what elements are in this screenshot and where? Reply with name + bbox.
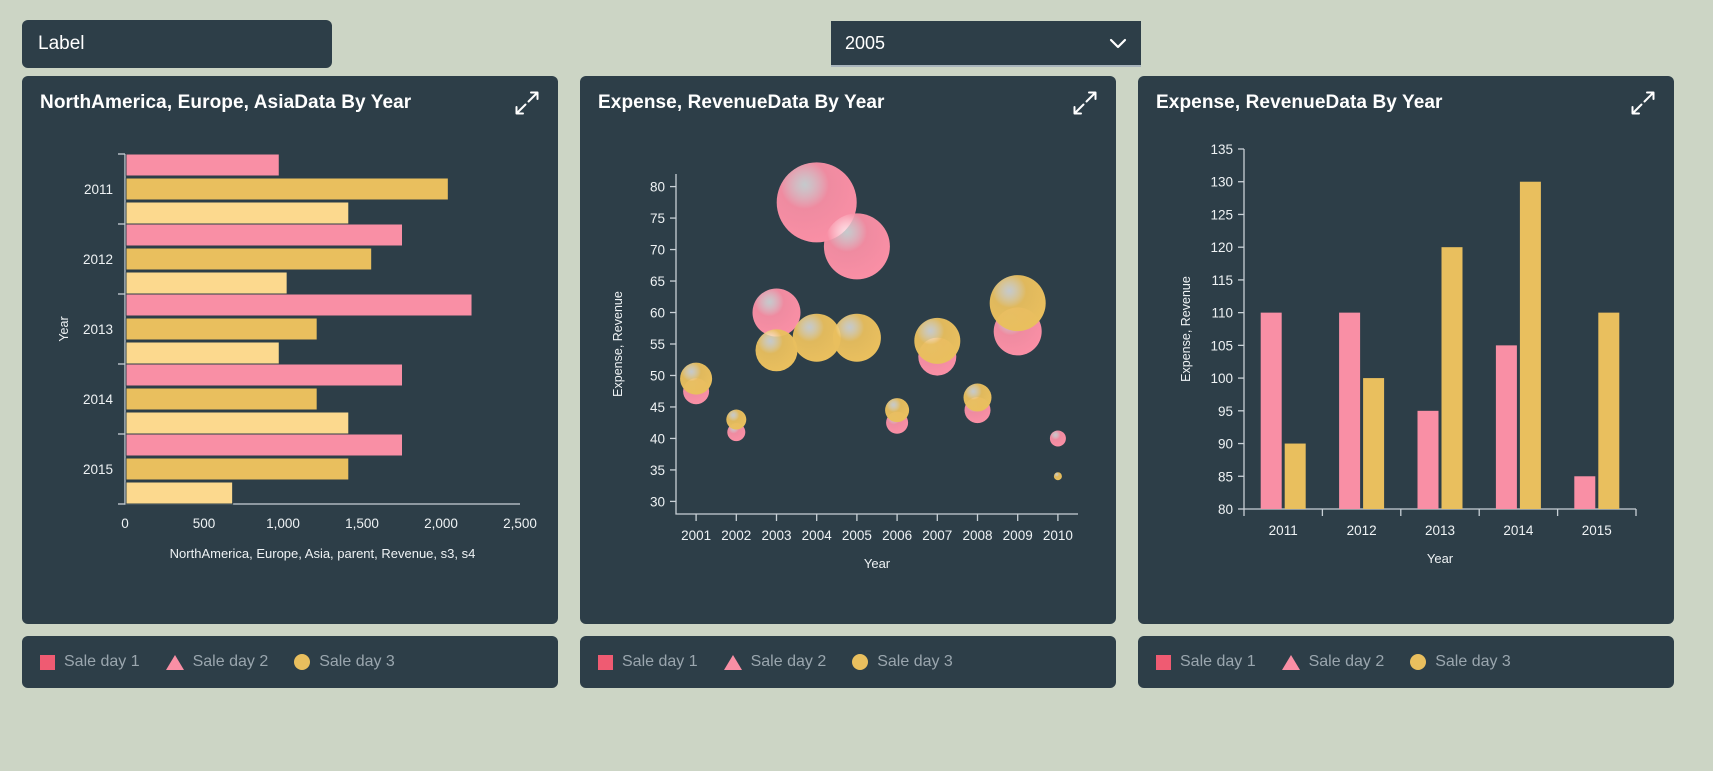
legend-panel-3: Sale day 1 Sale day 2 Sale day 3 xyxy=(1138,636,1674,688)
legend-label: Sale day 3 xyxy=(1435,653,1511,671)
svg-text:2015: 2015 xyxy=(1582,523,1612,538)
legend-label: Sale day 2 xyxy=(193,653,269,671)
square-marker-icon xyxy=(598,655,613,670)
legend-label: Sale day 3 xyxy=(319,653,395,671)
legend-label: Sale day 1 xyxy=(622,653,698,671)
legend-label: Sale day 2 xyxy=(1309,653,1385,671)
svg-text:80: 80 xyxy=(1218,502,1233,517)
legend-item-sale-day-3[interactable]: Sale day 3 xyxy=(852,653,953,671)
panel-title-2: Expense, RevenueData By Year xyxy=(598,92,1098,114)
legend-item-sale-day-2[interactable]: Sale day 2 xyxy=(1282,653,1385,671)
circle-marker-icon xyxy=(1410,654,1426,670)
svg-text:110: 110 xyxy=(1211,306,1233,321)
svg-text:2013: 2013 xyxy=(83,322,113,337)
triangle-marker-icon xyxy=(1282,655,1300,670)
column-chart-card: Expense, RevenueData By Year 80859095100… xyxy=(1138,76,1674,624)
svg-text:Expense, Revenue: Expense, Revenue xyxy=(611,291,625,397)
panel-title-3: Expense, RevenueData By Year xyxy=(1156,92,1656,114)
square-marker-icon xyxy=(40,655,55,670)
svg-text:Year: Year xyxy=(864,556,891,571)
circle-marker-icon xyxy=(294,654,310,670)
legend-panel-2: Sale day 1 Sale day 2 Sale day 3 xyxy=(580,636,1116,688)
svg-text:80: 80 xyxy=(650,180,665,195)
svg-text:2002: 2002 xyxy=(721,528,751,543)
expand-icon[interactable] xyxy=(514,90,540,116)
column-chart-svg: 8085909510010511011512012513013520112012… xyxy=(1156,114,1656,604)
svg-text:2007: 2007 xyxy=(922,528,952,543)
legend-label: Sale day 2 xyxy=(751,653,827,671)
panel-bubble-chart: Expense, RevenueData By Year 30354045505… xyxy=(580,76,1116,688)
year-filter-container: 2005 xyxy=(831,21,1141,67)
svg-text:35: 35 xyxy=(650,463,665,478)
svg-text:2004: 2004 xyxy=(802,528,833,543)
svg-text:2001: 2001 xyxy=(681,528,711,543)
column-chart-plot: 8085909510010511011512012513013520112012… xyxy=(1156,114,1656,604)
bubble-chart-card: Expense, RevenueData By Year 30354045505… xyxy=(580,76,1116,624)
svg-text:50: 50 xyxy=(650,368,665,383)
svg-text:1,500: 1,500 xyxy=(345,516,379,531)
legend-item-sale-day-1[interactable]: Sale day 1 xyxy=(598,653,698,671)
legend-item-sale-day-3[interactable]: Sale day 3 xyxy=(1410,653,1511,671)
svg-text:Year: Year xyxy=(1427,551,1454,566)
svg-text:100: 100 xyxy=(1210,371,1233,386)
label-textbox[interactable]: Label xyxy=(22,20,332,68)
svg-text:2011: 2011 xyxy=(84,182,113,197)
svg-text:2010: 2010 xyxy=(1043,528,1073,543)
bar-chart-card: NorthAmerica, Europe, AsiaData By Year 2… xyxy=(22,76,558,624)
svg-text:Expense, Revenue: Expense, Revenue xyxy=(1179,276,1193,382)
svg-text:2009: 2009 xyxy=(1003,528,1033,543)
svg-text:55: 55 xyxy=(650,337,665,352)
bar-chart-svg: 2011201220132014201505001,0001,5002,0002… xyxy=(40,114,540,604)
svg-text:135: 135 xyxy=(1210,142,1233,157)
triangle-marker-icon xyxy=(166,655,184,670)
panel-bar-chart: NorthAmerica, Europe, AsiaData By Year 2… xyxy=(22,76,558,688)
legend-label: Sale day 3 xyxy=(877,653,953,671)
bubble-chart-svg: 3035404550556065707580200120022003200420… xyxy=(598,114,1098,604)
circle-marker-icon xyxy=(852,654,868,670)
svg-text:45: 45 xyxy=(650,400,665,415)
svg-text:130: 130 xyxy=(1210,175,1233,190)
svg-text:75: 75 xyxy=(650,211,665,226)
svg-text:2014: 2014 xyxy=(1503,523,1534,538)
svg-text:60: 60 xyxy=(650,306,665,321)
svg-text:1,000: 1,000 xyxy=(266,516,300,531)
svg-text:2012: 2012 xyxy=(83,252,113,267)
svg-text:90: 90 xyxy=(1218,437,1233,452)
svg-text:2005: 2005 xyxy=(842,528,872,543)
svg-text:2,000: 2,000 xyxy=(424,516,458,531)
legend-item-sale-day-2[interactable]: Sale day 2 xyxy=(166,653,269,671)
svg-text:120: 120 xyxy=(1210,240,1233,255)
svg-text:85: 85 xyxy=(1218,469,1233,484)
expand-icon[interactable] xyxy=(1630,90,1656,116)
legend-item-sale-day-2[interactable]: Sale day 2 xyxy=(724,653,827,671)
svg-text:2013: 2013 xyxy=(1425,523,1455,538)
bar-chart-plot: 2011201220132014201505001,0001,5002,0002… xyxy=(40,114,540,604)
svg-text:40: 40 xyxy=(650,431,665,446)
svg-text:2012: 2012 xyxy=(1347,523,1377,538)
svg-text:125: 125 xyxy=(1210,207,1233,222)
legend-item-sale-day-1[interactable]: Sale day 1 xyxy=(40,653,140,671)
svg-text:2008: 2008 xyxy=(962,528,992,543)
svg-text:105: 105 xyxy=(1210,338,1233,353)
svg-text:2011: 2011 xyxy=(1269,523,1298,538)
triangle-marker-icon xyxy=(724,655,742,670)
svg-text:65: 65 xyxy=(650,274,665,289)
dashboard-panels: NorthAmerica, Europe, AsiaData By Year 2… xyxy=(0,76,1713,688)
svg-text:70: 70 xyxy=(650,243,665,258)
svg-text:0: 0 xyxy=(121,516,129,531)
legend-label: Sale day 1 xyxy=(1180,653,1256,671)
expand-icon[interactable] xyxy=(1072,90,1098,116)
panel-column-chart: Expense, RevenueData By Year 80859095100… xyxy=(1138,76,1674,688)
svg-text:2,500: 2,500 xyxy=(503,516,537,531)
year-select[interactable]: 2005 xyxy=(831,21,1141,67)
legend-item-sale-day-1[interactable]: Sale day 1 xyxy=(1156,653,1256,671)
svg-text:2014: 2014 xyxy=(83,392,114,407)
legend-item-sale-day-3[interactable]: Sale day 3 xyxy=(294,653,395,671)
svg-text:2015: 2015 xyxy=(83,462,113,477)
svg-text:Year: Year xyxy=(57,316,71,341)
legend-panel-1: Sale day 1 Sale day 2 Sale day 3 xyxy=(22,636,558,688)
bubble-chart-plot: 3035404550556065707580200120022003200420… xyxy=(598,114,1098,604)
svg-text:115: 115 xyxy=(1211,273,1233,288)
svg-text:500: 500 xyxy=(193,516,216,531)
square-marker-icon xyxy=(1156,655,1171,670)
svg-text:NorthAmerica, Europe, Asia, pa: NorthAmerica, Europe, Asia, parent, Reve… xyxy=(170,546,476,561)
svg-text:2003: 2003 xyxy=(761,528,791,543)
svg-text:95: 95 xyxy=(1218,404,1233,419)
top-toolbar: Label 2005 xyxy=(0,0,1713,76)
svg-text:2006: 2006 xyxy=(882,528,912,543)
panel-title-1: NorthAmerica, Europe, AsiaData By Year xyxy=(40,92,540,114)
label-textbox-value: Label xyxy=(38,33,85,55)
legend-label: Sale day 1 xyxy=(64,653,140,671)
svg-text:30: 30 xyxy=(650,494,665,509)
